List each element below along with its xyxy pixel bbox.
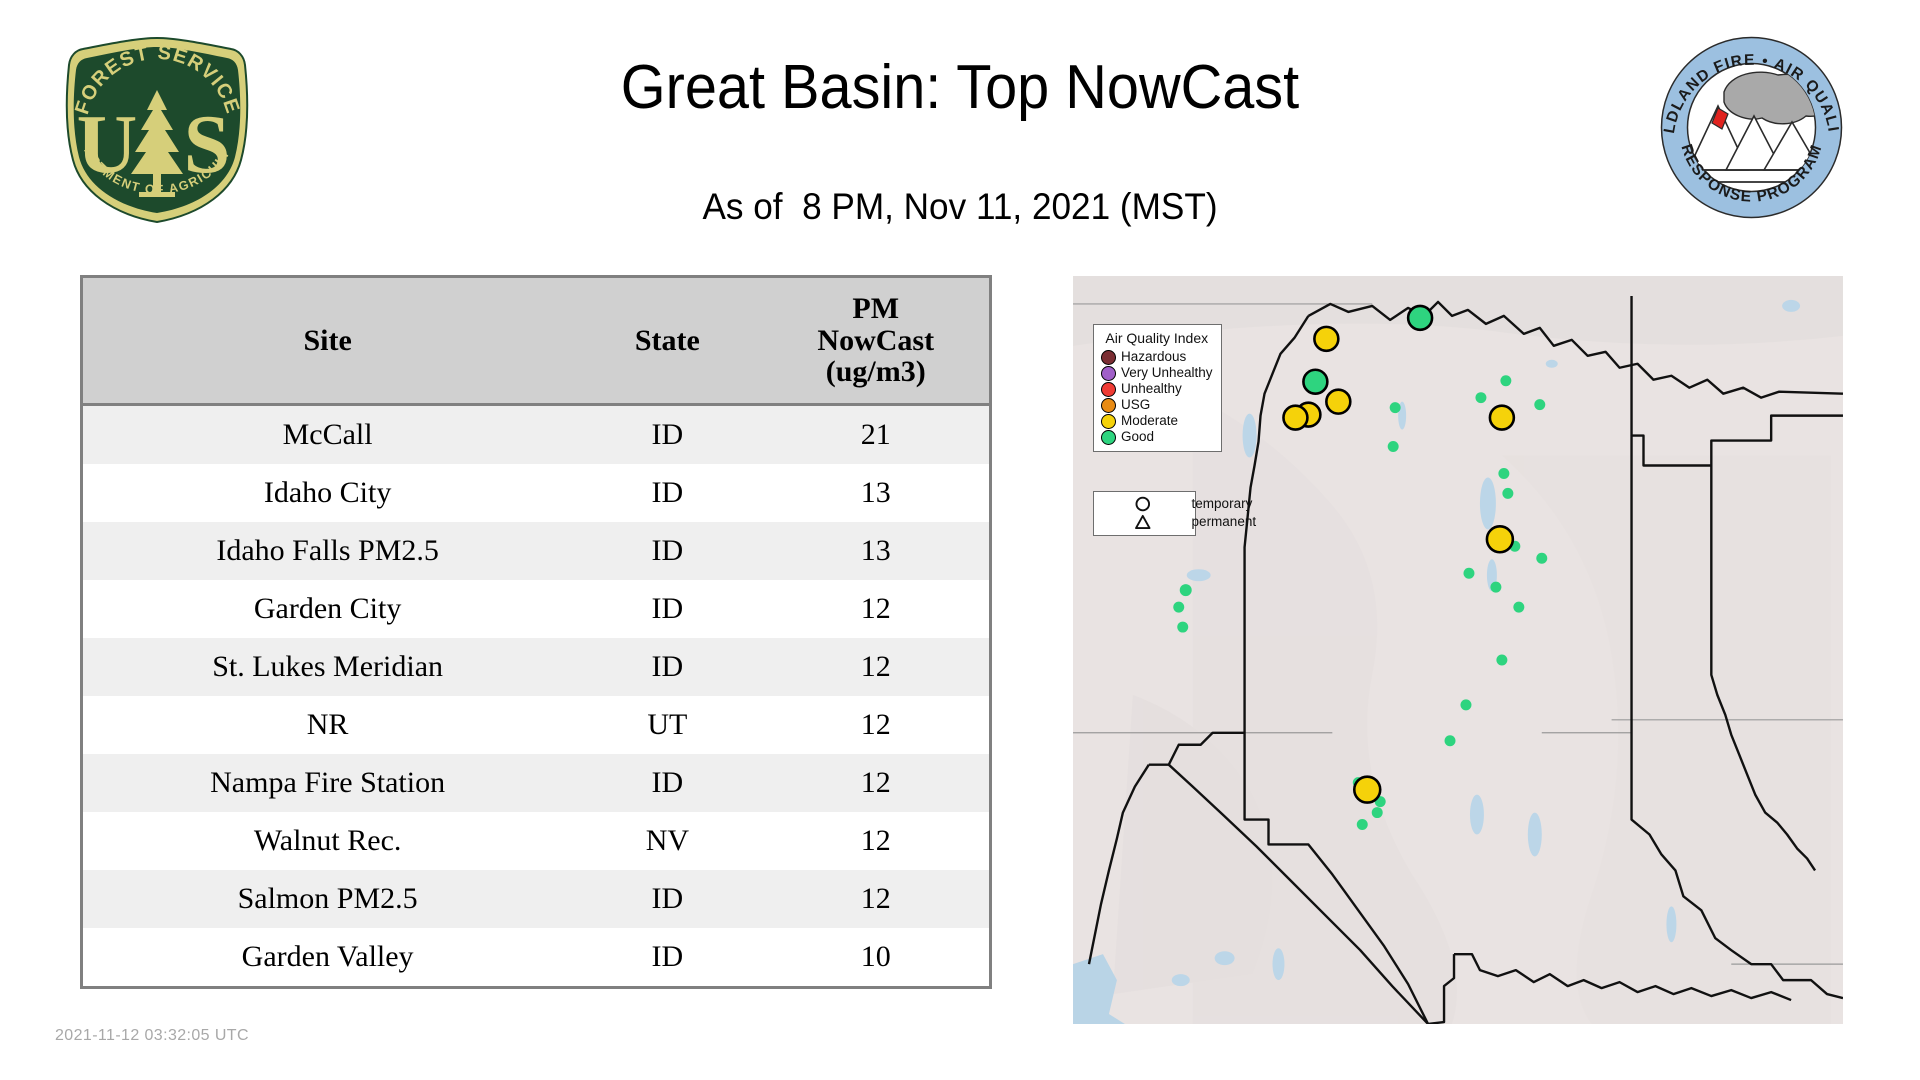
cell-state: ID	[572, 638, 762, 696]
cell-site: NR	[83, 696, 572, 754]
cell-value: 12	[762, 638, 989, 696]
site-marker	[1314, 327, 1338, 351]
legend-item-temporary: temporary	[1099, 495, 1187, 513]
site-marker	[1354, 777, 1380, 803]
table-row: St. Lukes Meridian ID 12	[83, 638, 989, 696]
cell-site: Idaho City	[83, 464, 572, 522]
cell-state: ID	[572, 580, 762, 638]
aqi-label-very-unhealthy: Very Unhealthy	[1121, 365, 1213, 381]
column-header-pm-line1: PM	[766, 293, 985, 325]
legend-label-temporary: temporary	[1192, 496, 1253, 512]
table-row: NR UT 12	[83, 696, 989, 754]
cell-state: NV	[572, 812, 762, 870]
site-marker	[1283, 406, 1307, 430]
cell-value: 12	[762, 696, 989, 754]
cell-state: ID	[572, 928, 762, 986]
circle-icon	[1099, 495, 1187, 513]
slide-root: FOREST SERVICE DEPARTMENT OF AGRICULTURE…	[0, 0, 1920, 1080]
cell-state: ID	[572, 405, 762, 465]
nowcast-table: Site State PM NowCast (ug/m3) McCall ID …	[83, 278, 989, 986]
table-row: Salmon PM2.5 ID 12	[83, 870, 989, 928]
column-header-pm-line3: (ug/m3)	[766, 356, 985, 388]
aqi-legend-item-unhealthy: Unhealthy	[1101, 381, 1213, 397]
aqi-legend-item-good: Good	[1101, 429, 1213, 445]
aqi-dot-hazardous	[1101, 350, 1116, 365]
cell-state: ID	[572, 870, 762, 928]
cell-site: McCall	[83, 405, 572, 465]
site-marker	[1303, 370, 1327, 394]
aqi-legend-item-very-unhealthy: Very Unhealthy	[1101, 365, 1213, 381]
aqi-legend-item-hazardous: Hazardous	[1101, 349, 1213, 365]
cell-site: Nampa Fire Station	[83, 754, 572, 812]
column-header-pm-nowcast: PM NowCast (ug/m3)	[762, 278, 989, 405]
aqi-dot-very-unhealthy	[1101, 366, 1116, 381]
table-header-row: Site State PM NowCast (ug/m3)	[83, 278, 989, 405]
aqi-label-unhealthy: Unhealthy	[1121, 381, 1182, 397]
cell-state: ID	[572, 522, 762, 580]
column-header-pm-line2: NowCast	[766, 325, 985, 357]
cell-site: Garden Valley	[83, 928, 572, 986]
cell-value: 13	[762, 522, 989, 580]
aqi-legend-item-usg: USG	[1101, 397, 1213, 413]
aqi-dot-usg	[1101, 398, 1116, 413]
nowcast-table-container: Site State PM NowCast (ug/m3) McCall ID …	[80, 275, 992, 989]
cell-state: ID	[572, 464, 762, 522]
cell-value: 12	[762, 812, 989, 870]
cell-state: UT	[572, 696, 762, 754]
aqi-label-moderate: Moderate	[1121, 413, 1178, 429]
table-header: Site State PM NowCast (ug/m3)	[83, 278, 989, 405]
cell-value: 12	[762, 580, 989, 638]
cell-site: Salmon PM2.5	[83, 870, 572, 928]
air-quality-map[interactable]: Air Quality Index Hazardous Very Unhealt…	[1072, 275, 1844, 1025]
cell-site: Walnut Rec.	[83, 812, 572, 870]
table-row: Idaho City ID 13	[83, 464, 989, 522]
site-marker	[1326, 390, 1350, 414]
cell-value: 12	[762, 870, 989, 928]
page-title: Great Basin: Top NowCast	[67, 52, 1853, 123]
cell-site: Idaho Falls PM2.5	[83, 522, 572, 580]
site-marker	[1408, 306, 1432, 330]
table-body: McCall ID 21 Idaho City ID 13 Idaho Fall…	[83, 405, 989, 987]
generated-timestamp: 2021-11-12 03:32:05 UTC	[55, 1027, 249, 1045]
cell-site: St. Lukes Meridian	[83, 638, 572, 696]
page-subtitle: As of 8 PM, Nov 11, 2021 (MST)	[48, 186, 1872, 228]
cell-value: 21	[762, 405, 989, 465]
aqi-legend: Air Quality Index Hazardous Very Unhealt…	[1093, 324, 1222, 452]
legend-label-permanent: permanent	[1192, 514, 1257, 530]
cell-value: 12	[762, 754, 989, 812]
table-row: Walnut Rec. NV 12	[83, 812, 989, 870]
column-header-site: Site	[83, 278, 572, 405]
triangle-icon	[1099, 513, 1187, 531]
aqi-dot-moderate	[1101, 414, 1116, 429]
legend-item-permanent: permanent	[1099, 513, 1187, 531]
cell-value: 13	[762, 464, 989, 522]
table-row: Garden City ID 12	[83, 580, 989, 638]
column-header-state: State	[572, 278, 762, 405]
aqi-label-usg: USG	[1121, 397, 1150, 413]
aqi-dot-unhealthy	[1101, 382, 1116, 397]
site-marker	[1490, 406, 1514, 430]
aqi-dot-good	[1101, 430, 1116, 445]
monitor-type-legend: temporary permanent	[1093, 491, 1196, 536]
aqi-label-good: Good	[1121, 429, 1154, 445]
cell-value: 10	[762, 928, 989, 986]
table-row: Idaho Falls PM2.5 ID 13	[83, 522, 989, 580]
site-marker	[1487, 526, 1513, 552]
aqi-legend-item-moderate: Moderate	[1101, 413, 1213, 429]
cell-site: Garden City	[83, 580, 572, 638]
table-row: McCall ID 21	[83, 405, 989, 465]
table-row: Garden Valley ID 10	[83, 928, 989, 986]
aqi-legend-title: Air Quality Index	[1101, 330, 1213, 346]
aqi-label-hazardous: Hazardous	[1121, 349, 1186, 365]
cell-state: ID	[572, 754, 762, 812]
table-row: Nampa Fire Station ID 12	[83, 754, 989, 812]
